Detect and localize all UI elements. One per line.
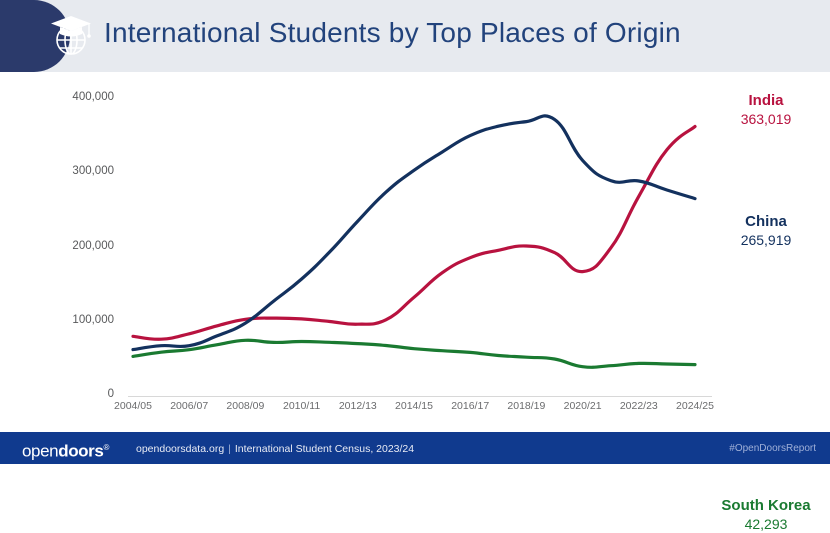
series-value: 42,293 [708,515,824,533]
x-tick-label: 2022/23 [620,400,658,412]
series-name: South Korea [708,497,824,515]
registered-mark: ® [103,443,109,452]
series-label-india: India363,019 [708,92,824,128]
series-label-south-korea: South Korea42,293 [708,497,824,533]
x-tick-label: 2008/09 [226,400,264,412]
x-tick-label: 2004/05 [114,400,152,412]
footer-site[interactable]: opendoorsdata.org [136,443,224,455]
series-label-china: China265,919 [708,213,824,249]
series-line-china [133,116,695,350]
x-tick-label: 2014/15 [395,400,433,412]
x-axis: 2004/052006/072008/092010/112012/132014/… [0,394,830,418]
x-tick-label: 2012/13 [339,400,377,412]
x-tick-label: 2018/19 [507,400,545,412]
x-tick-label: 2020/21 [564,400,602,412]
series-name: China [708,213,824,231]
opendoors-logo: opendoors® [22,439,109,461]
line-chart-plot [0,72,830,430]
x-tick-label: 2016/17 [451,400,489,412]
x-tick-label: 2024/25 [676,400,714,412]
x-tick-label: 2010/11 [283,400,320,412]
footer-bar: opendoors® opendoorsdata.org|Internation… [0,432,830,464]
logo-doors: doors [58,442,103,461]
footer-source: opendoorsdata.org|International Student … [136,443,414,455]
footer-separator: | [224,443,235,455]
series-value: 363,019 [708,110,824,128]
series-value: 265,919 [708,231,824,249]
chart-container: 0100,000200,000300,000400,000 2004/05200… [0,72,830,430]
logo-open: open [22,442,58,461]
footer-hashtag: #OpenDoorsReport [729,443,816,454]
series-name: India [708,92,824,110]
series-line-india [133,127,695,340]
footer-census: International Student Census, 2023/24 [235,443,414,455]
slide-root: International Students by Top Places of … [0,0,830,464]
header-bar: International Students by Top Places of … [0,0,830,72]
page-title: International Students by Top Places of … [104,17,681,49]
graduation-cap-globe-icon [46,11,96,61]
series-line-south-korea [133,340,695,367]
x-tick-label: 2006/07 [170,400,208,412]
